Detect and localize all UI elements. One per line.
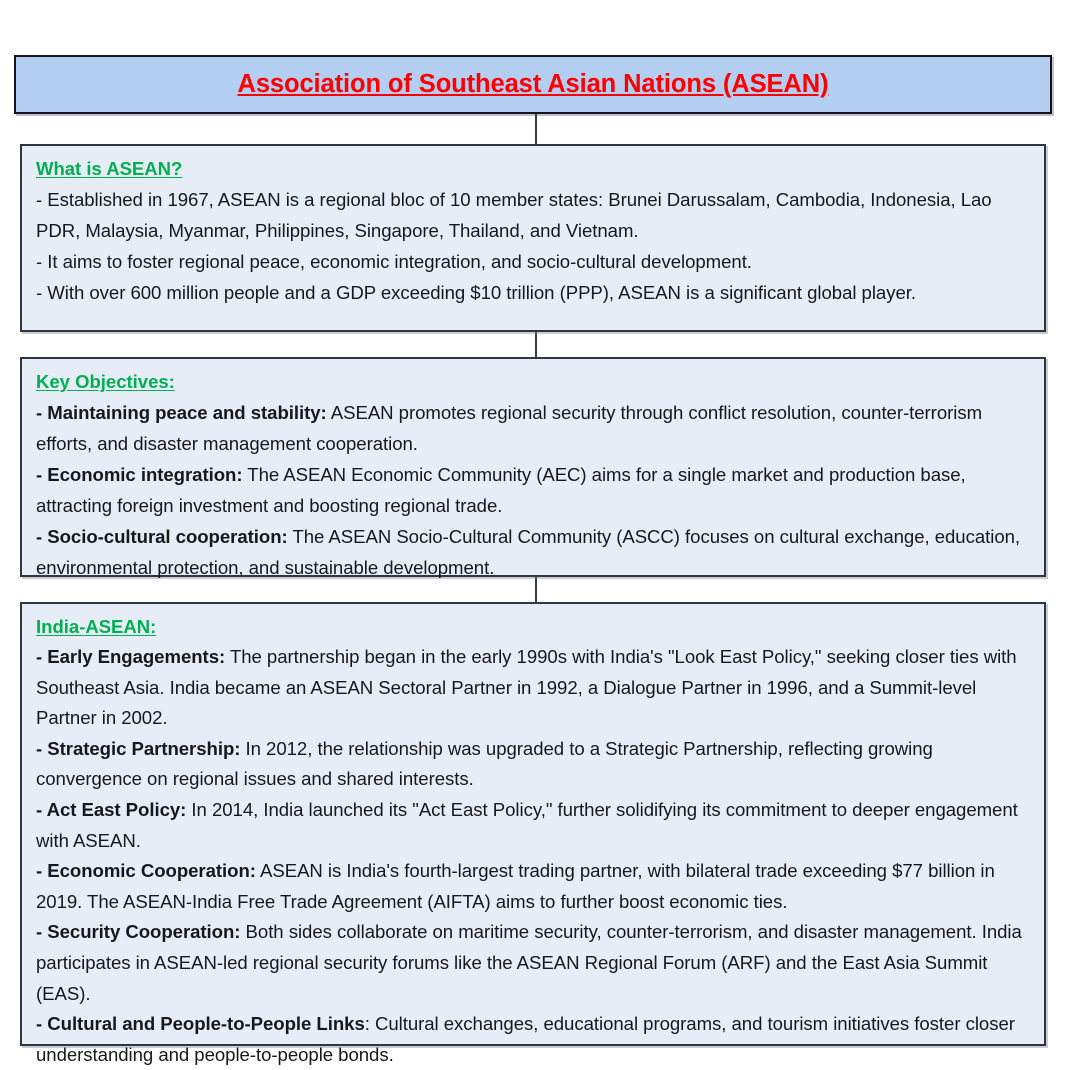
section-line: - Economic Cooperation: ASEAN is India's… xyxy=(36,856,1030,917)
line-lead: - Early Engagements: xyxy=(36,646,225,667)
section-heading: Key Objectives: xyxy=(36,368,1030,396)
section-line: - With over 600 million people and a GDP… xyxy=(36,277,1030,308)
section-line: - Economic integration: The ASEAN Econom… xyxy=(36,459,1030,521)
section-box-what-is-asean: What is ASEAN? - Established in 1967, AS… xyxy=(20,144,1046,332)
line-text: - It aims to foster regional peace, econ… xyxy=(36,251,752,272)
line-lead: - Cultural and People-to-People Links xyxy=(36,1013,365,1034)
section-box-india-asean: India-ASEAN: - Early Engagements: The pa… xyxy=(20,602,1046,1046)
line-lead: - Socio-cultural cooperation: xyxy=(36,526,288,547)
line-lead: - Economic integration: xyxy=(36,464,243,485)
section-line: - Established in 1967, ASEAN is a region… xyxy=(36,184,1030,246)
connector-line-title-to-section1 xyxy=(535,114,537,145)
connector-line-section1-to-section2 xyxy=(535,331,537,358)
section-line: - Socio-cultural cooperation: The ASEAN … xyxy=(36,521,1030,583)
line-lead: - Security Cooperation: xyxy=(36,921,240,942)
section-line: - It aims to foster regional peace, econ… xyxy=(36,246,1030,277)
section-line: - Early Engagements: The partnership beg… xyxy=(36,642,1030,734)
line-lead: - Maintaining peace and stability: xyxy=(36,402,327,423)
page-title: Association of Southeast Asian Nations (… xyxy=(238,70,829,99)
line-lead: - Economic Cooperation: xyxy=(36,860,256,881)
infographic-canvas: Association of Southeast Asian Nations (… xyxy=(0,0,1066,1060)
line-lead: - Act East Policy: xyxy=(36,799,186,820)
section-line: - Act East Policy: In 2014, India launch… xyxy=(36,795,1030,856)
line-text: - With over 600 million people and a GDP… xyxy=(36,282,916,303)
title-banner: Association of Southeast Asian Nations (… xyxy=(14,55,1052,114)
line-text: - Established in 1967, ASEAN is a region… xyxy=(36,189,992,241)
section-line: - Strategic Partnership: In 2012, the re… xyxy=(36,734,1030,795)
line-lead: - Strategic Partnership: xyxy=(36,738,240,759)
section-line: - Maintaining peace and stability: ASEAN… xyxy=(36,397,1030,459)
section-line: - Security Cooperation: Both sides colla… xyxy=(36,917,1030,1009)
section-heading: India-ASEAN: xyxy=(36,613,1030,641)
section-box-key-objectives: Key Objectives: - Maintaining peace and … xyxy=(20,357,1046,577)
section-heading: What is ASEAN? xyxy=(36,155,1030,183)
section-line: - Cultural and People-to-People Links: C… xyxy=(36,1009,1030,1070)
